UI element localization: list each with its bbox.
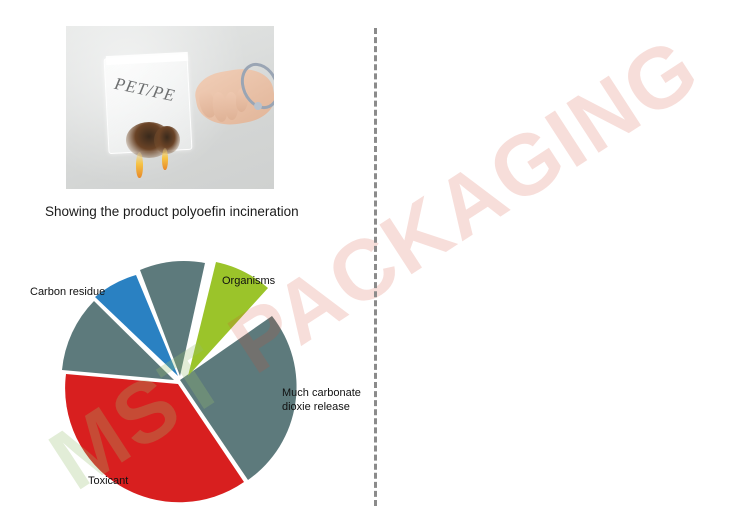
label-organisms-left: Organisms	[222, 274, 275, 288]
polyolefin-incineration-photo: PET/PE	[66, 26, 274, 189]
page-root: MST PACKAGING PET/PE	[0, 0, 750, 528]
label-much-carbonate-left: Much carbonate dioxie release	[282, 386, 368, 414]
panel-divider	[374, 28, 377, 506]
panel-left: PET/PE Showing the product polyoefin inc…	[0, 0, 375, 528]
flame-right	[162, 148, 168, 170]
panel-right: Showing the product afrer the incinerati…	[375, 0, 750, 528]
bracelet-charm	[254, 102, 262, 110]
photo-background: PET/PE	[66, 26, 274, 189]
label-carbon-residue-left: Carbon residue	[30, 285, 105, 299]
label-toxicant-left: Toxicant	[88, 474, 128, 488]
pie-chart-polyolefin: Carbon residue Organisms Much carbonate …	[20, 258, 375, 518]
flame-left	[136, 152, 143, 178]
caption-left: Showing the product polyoefin incinerati…	[45, 203, 365, 221]
burn-mark-right	[154, 126, 180, 154]
